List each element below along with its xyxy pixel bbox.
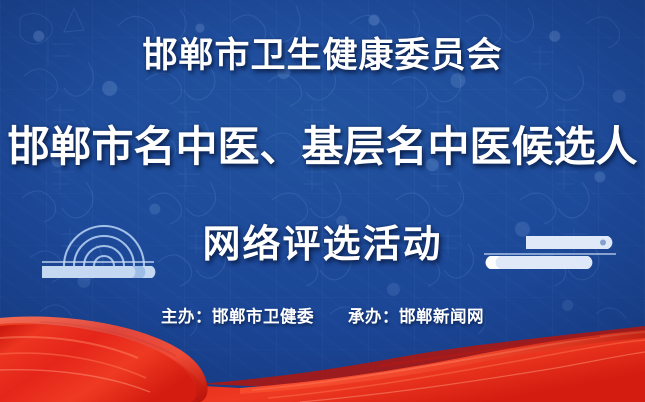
page-title-line1: 邯郸市卫生健康委员会 xyxy=(0,38,645,73)
credits-line: 主办：邯郸市卫健委承办：邯郸新闻网 xyxy=(0,303,645,327)
page-title-line2: 邯郸市名中医、基层名中医候选人 xyxy=(0,126,645,168)
poster-banner: 邯郸市卫生健康委员会 邯郸市名中医、基层名中医候选人 网络评选活动 xyxy=(0,0,645,402)
subtitle-row: 网络评选活动 xyxy=(0,222,645,278)
credits-undertaker: 承办：邯郸新闻网 xyxy=(348,308,484,326)
credits-organizer: 主办：邯郸市卫健委 xyxy=(161,308,314,326)
double-bar-ornament-icon xyxy=(470,230,622,274)
